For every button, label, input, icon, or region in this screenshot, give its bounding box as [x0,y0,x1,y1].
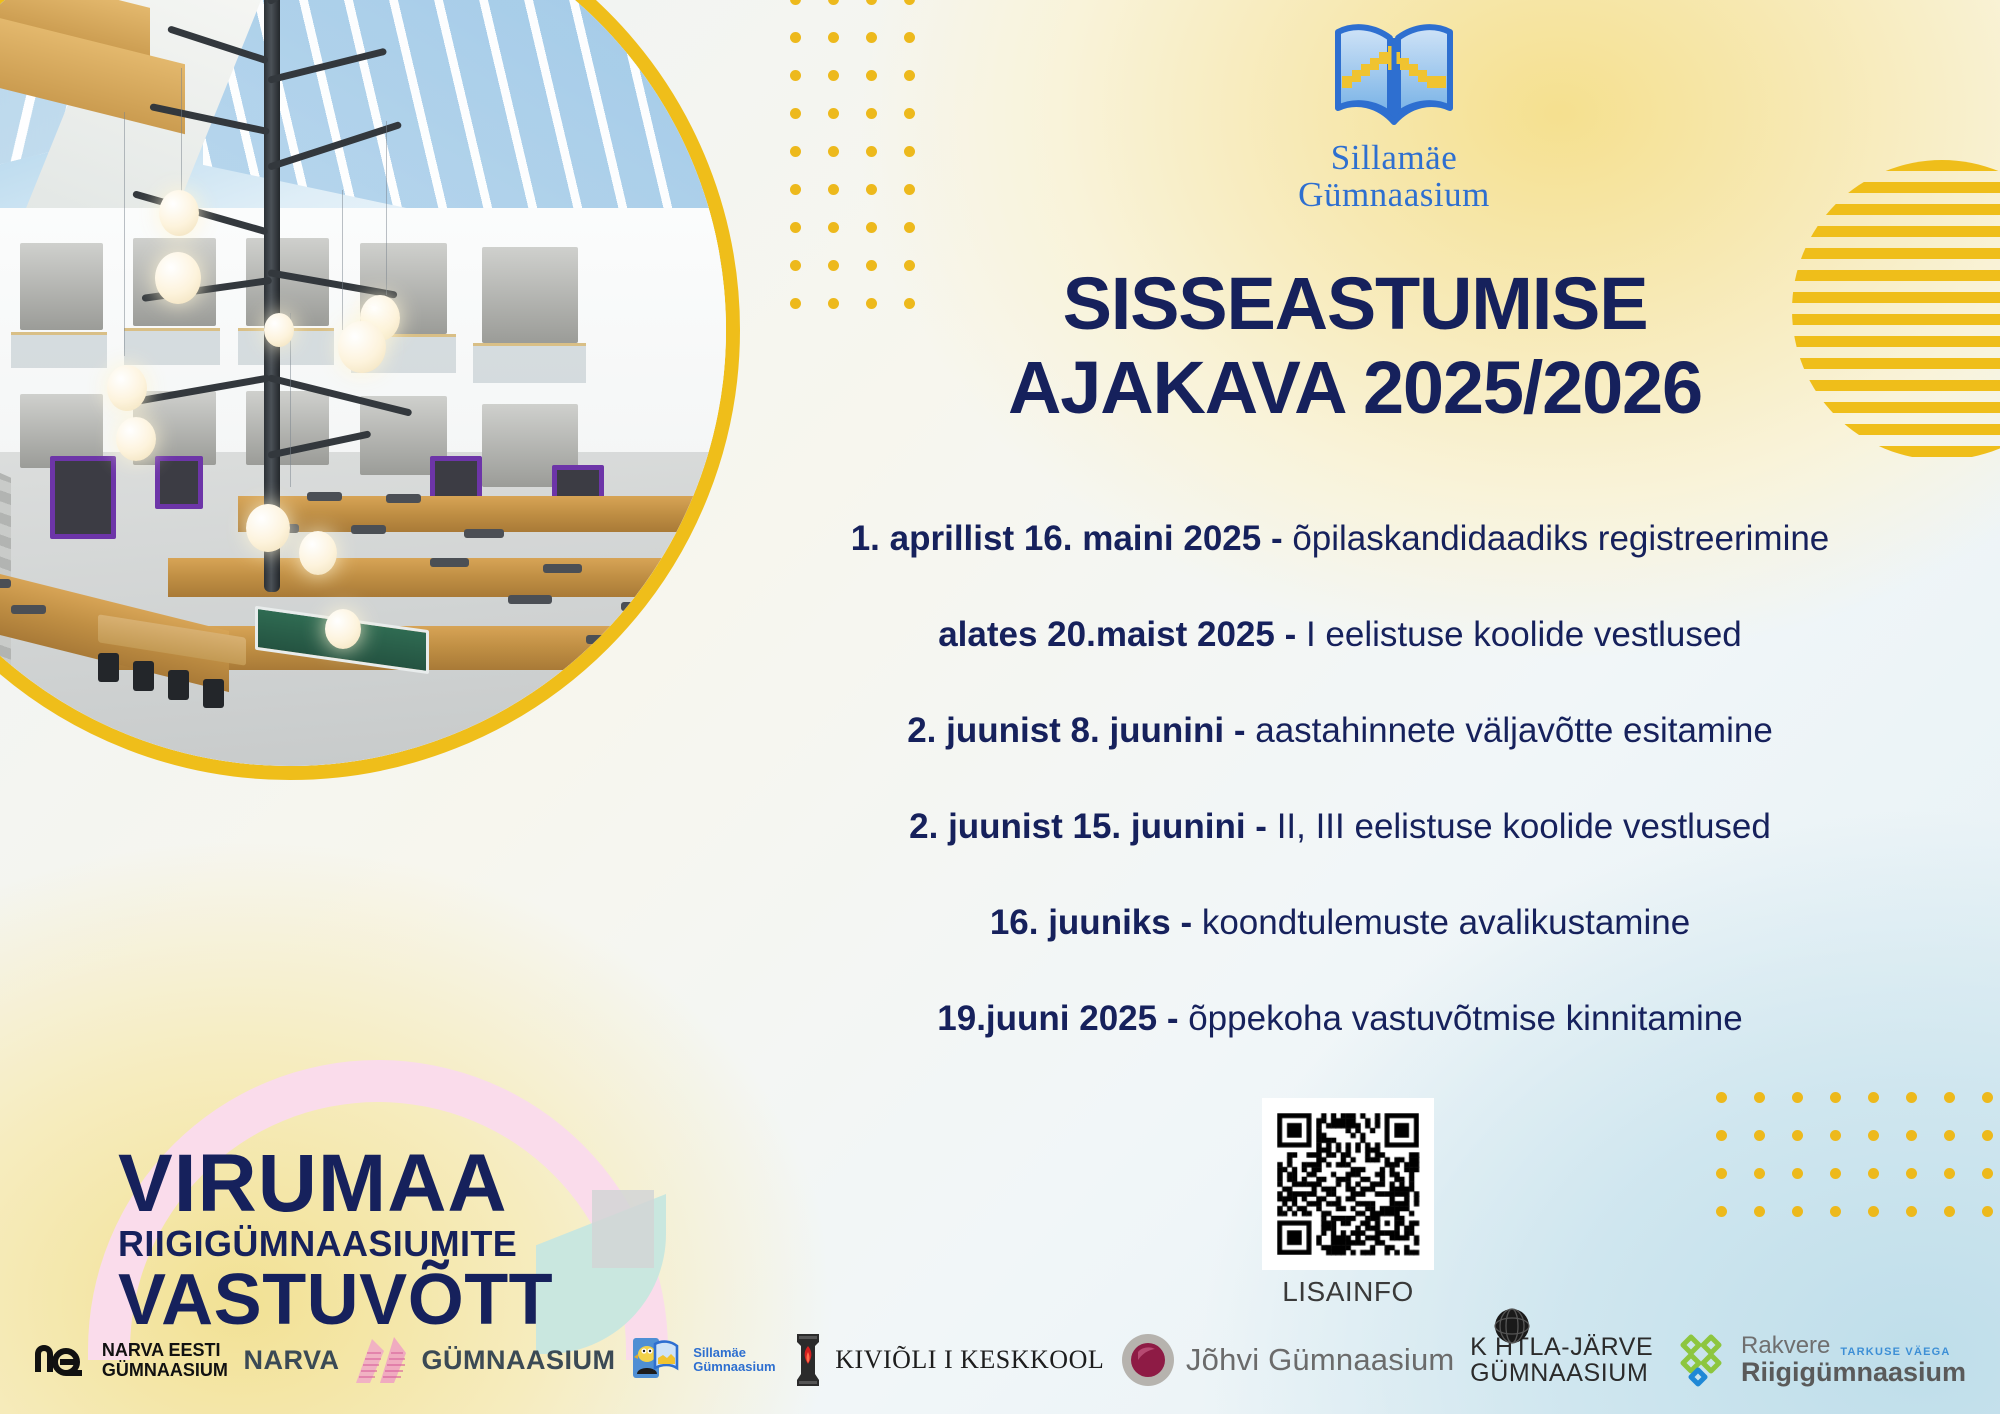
decor-dot [1868,1130,1879,1141]
school-atrium-photo [0,0,740,780]
schedule-row: 1. aprillist 16. maini 2025 - õpilaskand… [700,518,1980,560]
decor-dot [1982,1130,1993,1141]
decor-dot [866,222,877,233]
decor-dot [828,108,839,119]
decor-dot [1982,1168,1993,1179]
decor-dot [904,108,915,119]
footer-logo-4-line1: Jõhvi Gümnaasium [1186,1342,1455,1378]
decor-dot [828,32,839,43]
decor-dot [1982,1092,1993,1103]
rakvere-diamonds-icon [1669,1331,1731,1389]
schedule-row: 16. juuniks - koondtulemuste avalikustam… [700,902,1980,944]
decor-dot [790,222,801,233]
footer-logo-sillamae-gymnaasium[interactable]: Sillamäe Gümnaasium [631,1334,775,1386]
schedule-row-date: 1. aprillist 16. maini 2025 [851,519,1262,558]
schedule-row: 2. juunist 15. juunini - II, III eelistu… [700,806,1980,848]
schedule-row-separator: - [1171,903,1202,942]
admission-schedule-list: 1. aprillist 16. maini 2025 - õpilaskand… [700,518,1980,1094]
schedule-row-separator: - [1275,615,1306,654]
decor-dot [904,70,915,81]
ne-monogram-icon [34,1338,92,1382]
wordmark-line2: RIIGIGÜMNAASIUMITE [118,1224,553,1264]
schedule-row-separator: - [1224,711,1255,750]
footer-logo-0-line1: NARVA EESTI [102,1340,228,1360]
schedule-row-separator: - [1261,519,1292,558]
decor-dot [1830,1168,1841,1179]
decor-dot [1792,1168,1803,1179]
schedule-row-separator: - [1246,807,1277,846]
schedule-row-text: õpilaskandidaadiks registreerimine [1292,519,1829,558]
open-book-icon [1328,18,1460,134]
sillamae-bird-book-icon [631,1334,683,1386]
decor-dot [1792,1130,1803,1141]
decor-dot [866,70,877,81]
sillamae-gymnaasium-logo: Sillamäe Gümnaasium [1244,18,1544,214]
decor-dot [1792,1206,1803,1217]
decor-dot [828,222,839,233]
school-logo-line1: Sillamäe [1244,140,1544,177]
qr-label: LISAINFO [1262,1276,1434,1308]
lisainfo-qr-block[interactable]: LISAINFO [1262,1098,1434,1308]
decor-dot [1754,1168,1765,1179]
decor-dot [828,70,839,81]
page-title-line1: SISSEASTUMISE [760,262,1950,346]
decor-dot [1944,1168,1955,1179]
decor-dot [904,184,915,195]
decor-dot [1754,1130,1765,1141]
decor-dot [904,0,915,5]
decor-dot [1716,1130,1727,1141]
page-title: SISSEASTUMISE AJAKAVA 2025/2026 [760,262,1950,431]
schedule-row-date: 19.juuni 2025 [937,999,1157,1038]
decor-dot [790,32,801,43]
decor-dot [904,146,915,157]
schedule-row-text: II, III eelistuse koolide vestlused [1277,807,1771,846]
decor-dot [790,70,801,81]
schedule-row-text: õppekoha vastuvõtmise kinnitamine [1188,999,1742,1038]
decor-dot [1868,1206,1879,1217]
dot-grid-bottom-right [1716,1092,2000,1212]
decor-dot [1906,1130,1917,1141]
decor-dot [828,146,839,157]
school-logo-line2: Gümnaasium [1244,177,1544,214]
schedule-row-separator: - [1157,999,1188,1038]
footer-logo-6-line2: Riigigümnaasium [1741,1358,1966,1386]
footer-logo-kivioli-i-keskkool[interactable]: KIVIÕLI I KESKKOOL [791,1330,1104,1390]
decor-dot [1906,1206,1917,1217]
decor-dot [790,0,801,5]
poster-root: Sillamäe Gümnaasium SISSEASTUMISE AJAKAV… [0,0,2000,1414]
decor-dot [904,222,915,233]
schedule-row-date: 16. juuniks [990,903,1171,942]
decor-dot [1944,1130,1955,1141]
decor-dot [1830,1130,1841,1141]
kohtla-jarve-sphere-icon [1492,1306,1532,1346]
footer-logo-3-line1: KIVIÕLI I KESKKOOL [835,1345,1104,1375]
decor-dot [866,0,877,5]
footer-logo-1-line2: GÜMNAASIUM [422,1345,616,1376]
schedule-row: alates 20.maist 2025 - I eelistuse kooli… [700,614,1980,656]
decor-dot [866,184,877,195]
schedule-row-date: 2. juunist 8. juunini [907,711,1224,750]
decor-dot [866,32,877,43]
schedule-row-text: I eelistuse koolide vestlused [1306,615,1742,654]
decor-dot [866,146,877,157]
qr-code-icon[interactable] [1262,1098,1434,1270]
schedule-row: 2. juunist 8. juunini - aastahinnete väl… [700,710,1980,752]
decor-dot [1906,1168,1917,1179]
footer-logo-narva-gymnaasium[interactable]: NARVA GÜMNAASIUM [244,1333,616,1387]
decor-dot [1830,1206,1841,1217]
schedule-row-text: koondtulemuste avalikustamine [1202,903,1690,942]
gray-chip-decoration [592,1190,654,1268]
decor-dot [1754,1206,1765,1217]
schedule-row-date: 2. juunist 15. juunini [909,807,1245,846]
footer-logo-2-line1: Sillamäe [693,1346,775,1360]
decor-dot [1716,1168,1727,1179]
decor-dot [790,146,801,157]
narva-pink-mark-icon [350,1333,412,1387]
decor-dot [790,184,801,195]
page-title-line2: AJAKAVA 2025/2026 [760,346,1950,430]
decor-dot [1868,1168,1879,1179]
dot-grid-top [790,0,930,294]
wordmark-line1: VIRUMAA [118,1144,553,1224]
footer-logo-0-line2: GÜMNAASIUM [102,1360,228,1380]
partner-logo-strip: NARVA EESTI GÜMNAASIUM NARVA GÜMNAASIUM [0,1306,2000,1414]
footer-logo-rakvere-riigigymnaasium[interactable]: Rakvere TARKUSE VÄEGA Riigigümnaasium [1669,1331,1966,1389]
decor-dot [866,108,877,119]
footer-logo-kohtla-jarve-gymnaasium[interactable]: K HTLA-JÄRVE GÜMNAASIUM [1470,1334,1653,1386]
decor-dot [1716,1206,1727,1217]
decor-dot [828,184,839,195]
footer-logo-5-line2: GÜMNAASIUM [1470,1360,1653,1386]
footer-logo-6-line1: Rakvere [1741,1334,1830,1358]
johvi-circle-icon [1120,1332,1176,1388]
kivioli-torch-icon [791,1330,825,1390]
decor-dot [828,0,839,5]
footer-logo-2-line2: Gümnaasium [693,1360,775,1374]
decor-dot [1982,1206,1993,1217]
schedule-row: 19.juuni 2025 - õppekoha vastuvõtmise ki… [700,998,1980,1040]
decor-dot [1944,1206,1955,1217]
footer-logo-johvi-gymnaasium[interactable]: Jõhvi Gümnaasium [1120,1332,1455,1388]
footer-logo-narva-eesti-gymnaasium[interactable]: NARVA EESTI GÜMNAASIUM [34,1338,228,1382]
schedule-row-text: aastahinnete väljavõtte esitamine [1255,711,1773,750]
decor-dot [790,108,801,119]
schedule-row-date: alates 20.maist 2025 [938,615,1275,654]
decor-dot [904,32,915,43]
footer-logo-1-line1: NARVA [244,1345,340,1376]
